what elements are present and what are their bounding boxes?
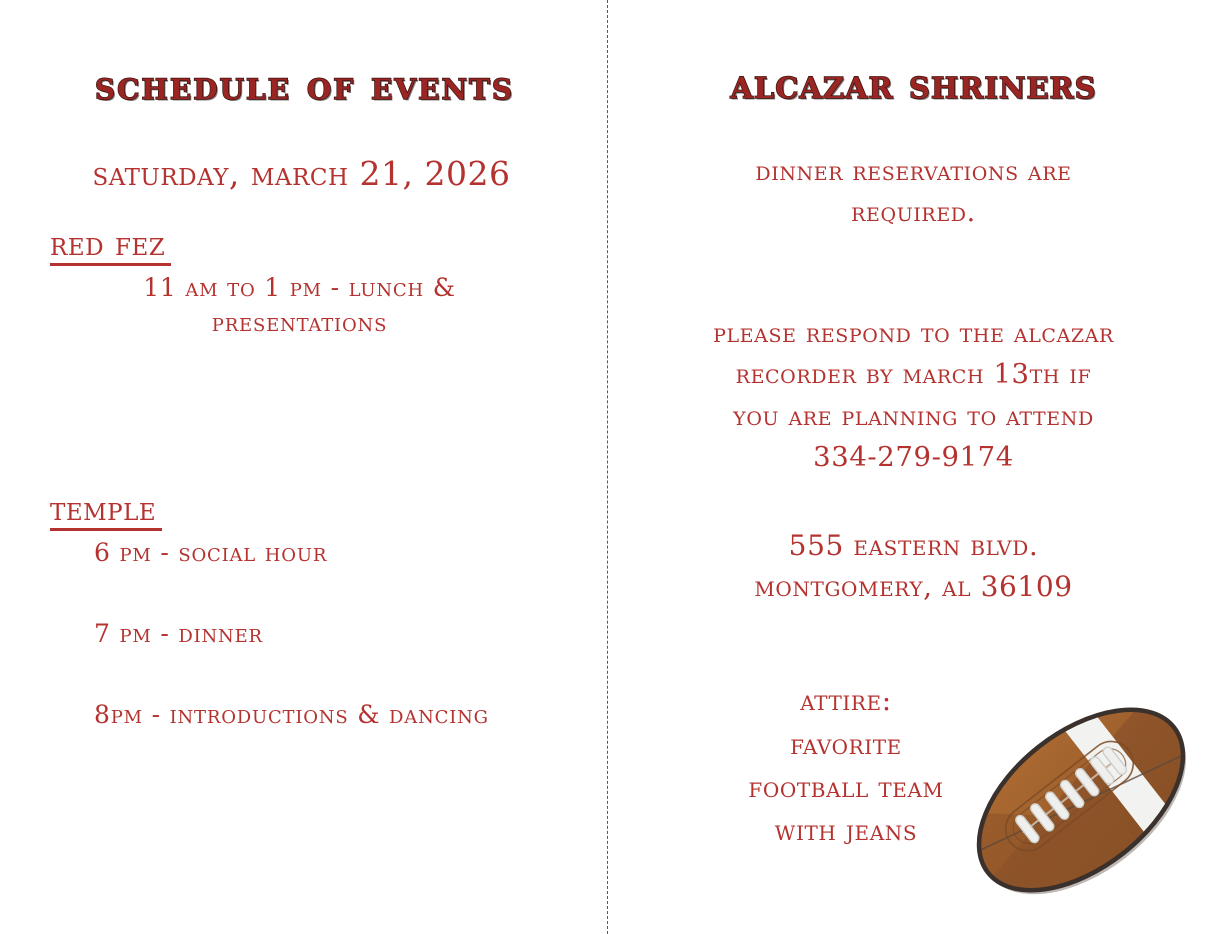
address-line: 555 Eastern Blvd. bbox=[647, 526, 1180, 567]
schedule-headline: Schedule of Events bbox=[30, 0, 579, 109]
attire-line: Favorite bbox=[681, 723, 1011, 766]
rsvp-note-line: Please respond to the Alcazar bbox=[647, 313, 1180, 354]
left-column: Schedule of Events Saturday, March 21, 2… bbox=[0, 0, 607, 934]
event-date: Saturday, March 21, 2026 bbox=[30, 155, 579, 194]
venue-line: presentations bbox=[80, 305, 519, 341]
reservation-note-line: Dinner Reservations are bbox=[647, 152, 1180, 193]
organization-headline: Alcazar Shriners bbox=[647, 0, 1180, 108]
rsvp-note: Please respond to the Alcazar Recorder b… bbox=[647, 313, 1180, 478]
venue-address: 555 Eastern Blvd. Montgomery, AL 36109 bbox=[647, 526, 1180, 607]
attire-label: Attire: bbox=[681, 679, 1011, 722]
right-column: Alcazar Shriners Dinner Reservations are… bbox=[607, 0, 1214, 934]
venue-schedule-temple: 6 pm - social hour 7 pm - dinner 8pm - i… bbox=[94, 535, 579, 734]
venue-name-red-fez: Red Fez bbox=[50, 226, 171, 266]
venue-line: 8pm - introductions & dancing bbox=[94, 697, 579, 733]
rsvp-phone-number: 334-279-9174 bbox=[647, 437, 1180, 478]
flyer-canvas: Schedule of Events Saturday, March 21, 2… bbox=[0, 0, 1214, 934]
attire-note: Attire: Favorite Football team with jean… bbox=[681, 679, 1011, 853]
venue-name-temple: Temple bbox=[50, 491, 162, 531]
venue-schedule-red-fez: 11 am to 1 pm - lunch & presentations bbox=[80, 270, 519, 341]
attire-line: Football team bbox=[681, 766, 1011, 809]
venue-line: 6 pm - social hour bbox=[94, 535, 579, 571]
reservation-note-line: required. bbox=[647, 193, 1180, 234]
address-line: Montgomery, AL 36109 bbox=[647, 567, 1180, 608]
reservation-note: Dinner Reservations are required. bbox=[647, 152, 1180, 233]
venue-block-red-fez: Red Fez 11 am to 1 pm - lunch & presenta… bbox=[50, 226, 579, 341]
venue-line: 7 pm - dinner bbox=[94, 616, 579, 652]
venue-line: 11 am to 1 pm - lunch & bbox=[80, 270, 519, 306]
rsvp-note-line: Recorder by March 13th if bbox=[647, 354, 1180, 395]
venue-block-temple: Temple 6 pm - social hour 7 pm - dinner … bbox=[50, 491, 579, 734]
attire-line: with jeans bbox=[681, 809, 1011, 852]
rsvp-note-line: you are planning to attend bbox=[647, 396, 1180, 437]
